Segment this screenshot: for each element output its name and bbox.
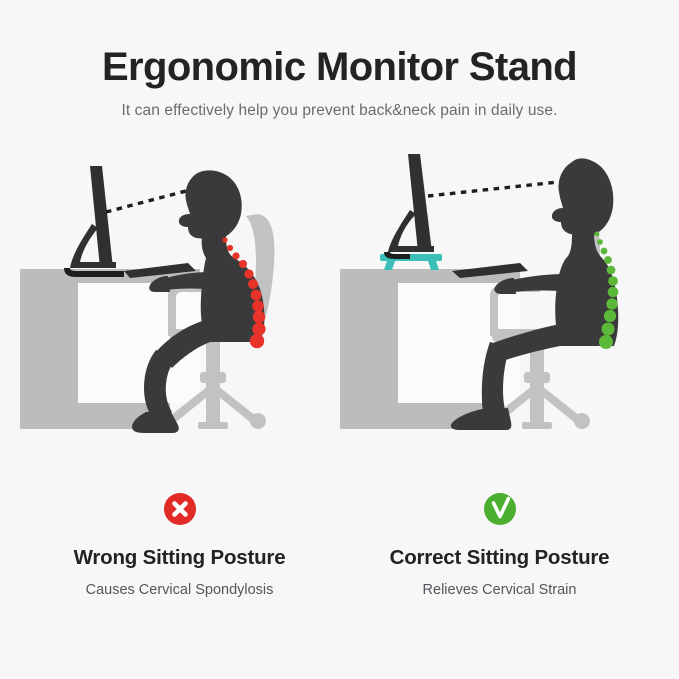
green-check-circle-icon bbox=[483, 492, 517, 526]
page-subtitle: It can effectively help you prevent back… bbox=[0, 102, 679, 120]
illustration-row bbox=[0, 144, 679, 444]
header: Ergonomic Monitor Stand It can effective… bbox=[0, 0, 679, 120]
caption-subtitle-wrong: Causes Cervical Spondylosis bbox=[86, 582, 274, 598]
caption-title-wrong: Wrong Sitting Posture bbox=[74, 546, 286, 570]
caption-subtitle-correct: Relieves Cervical Strain bbox=[423, 582, 577, 598]
caption-wrong: Wrong Sitting Posture Causes Cervical Sp… bbox=[20, 492, 340, 598]
correct-posture-illustration bbox=[340, 144, 660, 444]
page-title: Ergonomic Monitor Stand bbox=[0, 44, 679, 91]
caption-correct: Correct Sitting Posture Relieves Cervica… bbox=[340, 492, 660, 598]
sight-line-wrong bbox=[106, 191, 186, 212]
sight-line-correct bbox=[428, 182, 558, 196]
wrong-posture-illustration bbox=[20, 144, 340, 444]
monitor-wrong bbox=[64, 166, 124, 277]
monitor-correct bbox=[384, 154, 434, 259]
caption-row: Wrong Sitting Posture Causes Cervical Sp… bbox=[0, 492, 679, 598]
red-cross-circle-icon bbox=[163, 492, 197, 526]
infographic-page: Ergonomic Monitor Stand It can effective… bbox=[0, 0, 679, 679]
caption-title-correct: Correct Sitting Posture bbox=[390, 546, 610, 570]
